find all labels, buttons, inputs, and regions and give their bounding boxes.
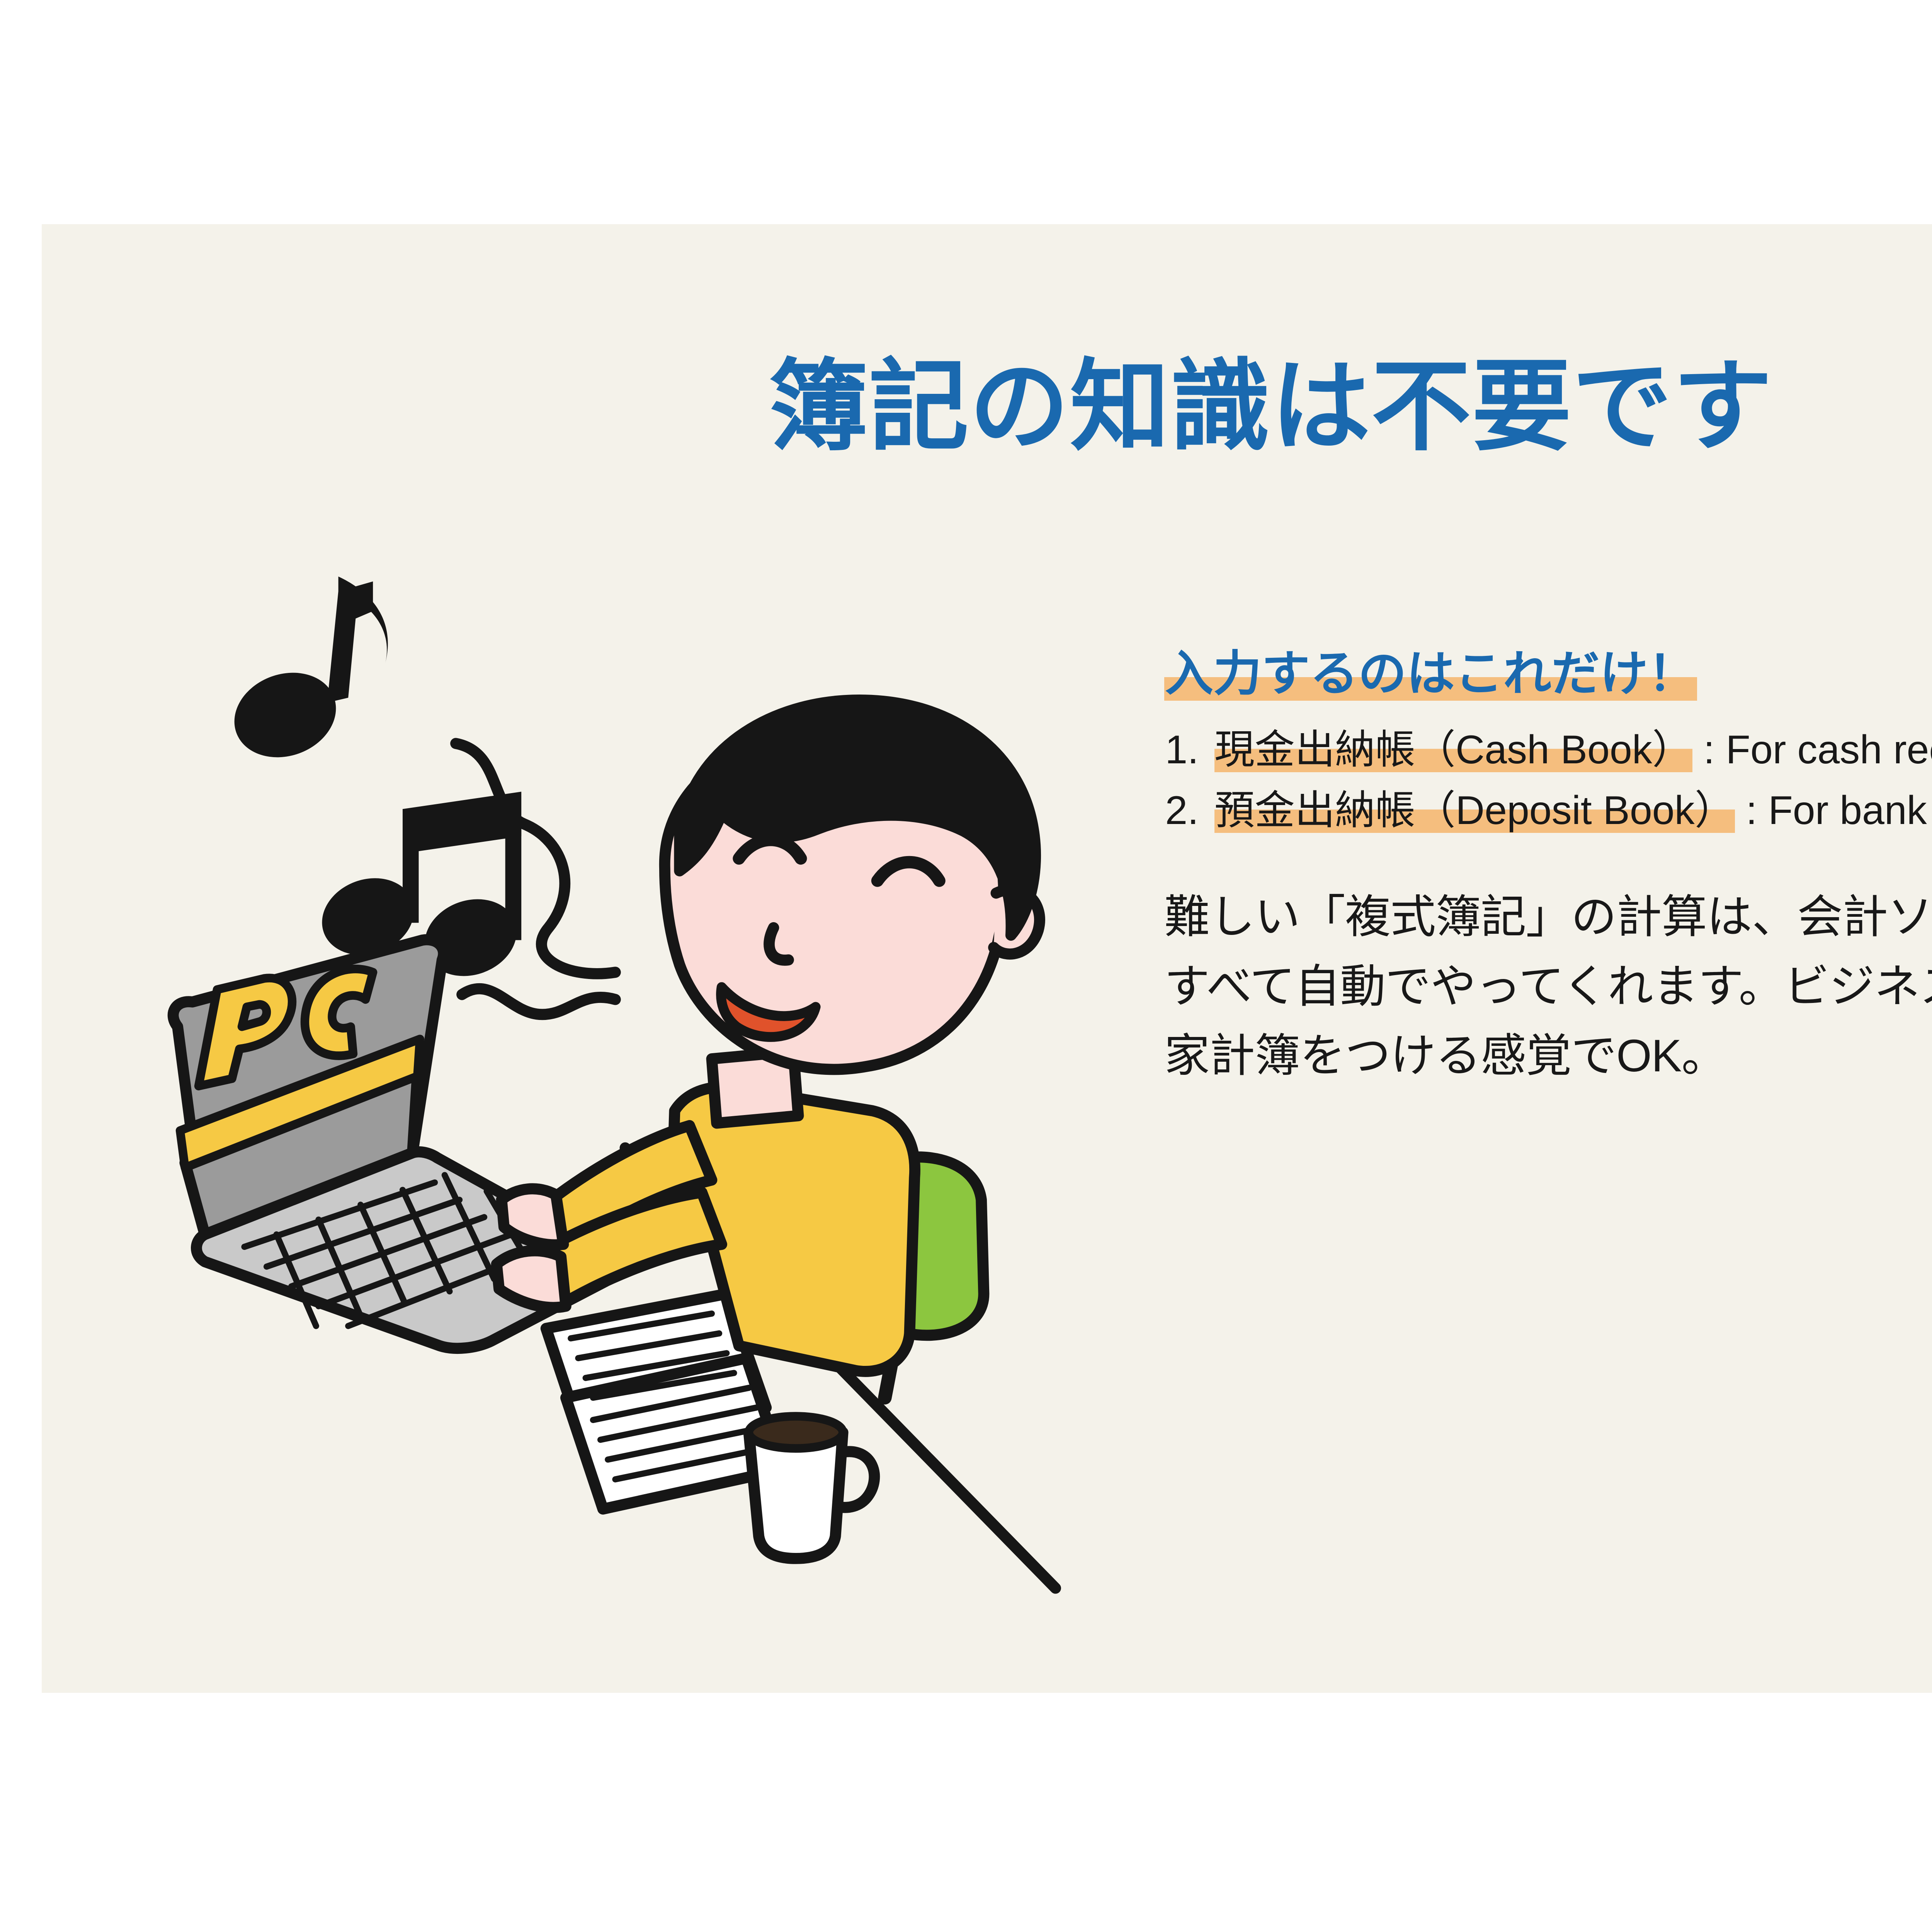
subhead: 入力するのはこれだけ！	[1164, 647, 1697, 701]
book-list: 現金出納帳（Cash Book） : For cash receipts. 預金…	[1164, 721, 1932, 840]
subhead-row: 入力するのはこれだけ！	[1164, 642, 1932, 707]
person-typing-on-laptop-illustration	[131, 564, 1120, 1608]
paragraph-line: 家計簿をつける感覚でOK。	[1164, 1021, 1932, 1091]
body-paragraph: 難しい「複式簿記」の計算は、会計ソフトが すべて自動でやってくれます。ビジネス版…	[1164, 883, 1932, 1091]
list-item-highlight: 預金出納帳（Deposit Book）	[1214, 788, 1735, 833]
list-item: 現金出納帳（Cash Book） : For cash receipts.	[1210, 721, 1932, 779]
slide-canvas: 簿記の知識は不要です	[42, 224, 1932, 1693]
content-column: 入力するのはこれだけ！ 現金出納帳（Cash Book） : For cash …	[1164, 642, 1932, 1091]
list-item: 預金出納帳（Deposit Book） : For bank transfers…	[1210, 781, 1932, 840]
coffee-mug	[749, 1416, 874, 1558]
sound-wave-icon	[456, 744, 616, 1015]
eighth-note-icon	[223, 577, 388, 771]
paragraph-line: 難しい「複式簿記」の計算は、会計ソフトが	[1164, 883, 1932, 952]
paragraph-line: すべて自動でやってくれます。ビジネス版の	[1164, 952, 1932, 1021]
list-item-highlight: 現金出納帳（Cash Book）	[1214, 727, 1692, 772]
list-item-rest: : For bank transfers.	[1735, 788, 1932, 833]
list-item-rest: : For cash receipts.	[1692, 727, 1932, 772]
page-title: 簿記の知識は不要です	[42, 352, 1932, 461]
